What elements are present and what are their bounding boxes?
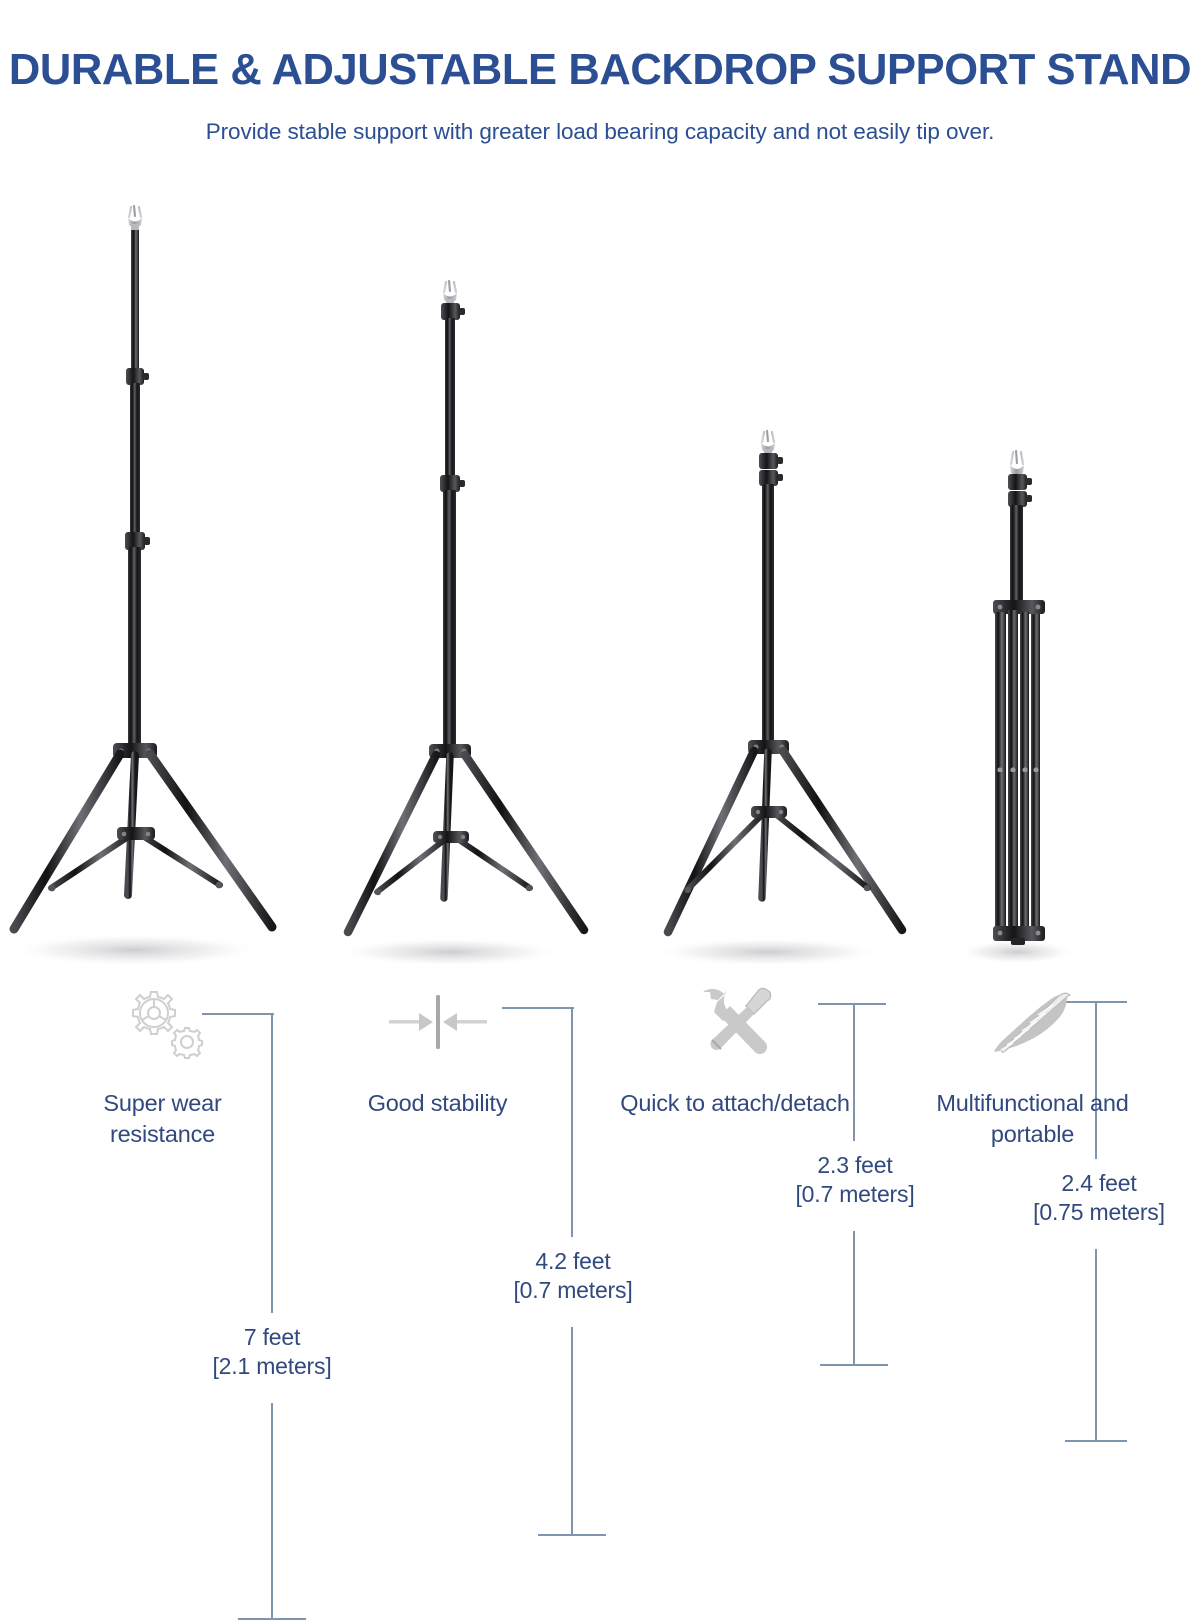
spigot-top xyxy=(443,281,457,305)
lock-collar-lower xyxy=(440,475,465,492)
stand-partially-extended: 4.2 feet [0.7 meters] xyxy=(330,270,630,980)
features-row: Super wearresistance Good stability xyxy=(0,980,1200,1200)
tripod-legs xyxy=(14,754,272,929)
lock-collar-upper xyxy=(126,368,149,385)
feature-label: Good stability xyxy=(310,1088,565,1119)
spigot-top xyxy=(761,431,775,454)
tripod-legs xyxy=(348,755,584,932)
header: DURABLE & ADJUSTABLE BACKDROP SUPPORT ST… xyxy=(0,0,1200,145)
feature-label: Super wearresistance xyxy=(35,1088,290,1150)
dimension-label-stand-2: 4.2 feet [0.7 meters] xyxy=(466,1247,680,1306)
spigot-top xyxy=(128,206,142,231)
lock-collar-lower xyxy=(1008,491,1032,507)
lock-collar-upper xyxy=(441,303,465,320)
lock-collar-lower xyxy=(759,470,783,486)
spigot-top xyxy=(1010,451,1024,476)
page-title: DURABLE & ADJUSTABLE BACKDROP SUPPORT ST… xyxy=(0,0,1200,95)
feature-label: Multifunctional andportable xyxy=(890,1088,1175,1150)
feature-multifunctional-portable: Multifunctional andportable xyxy=(890,980,1175,1150)
feather-icon xyxy=(890,980,1175,1064)
dimension-label-stand-1: 7 feet [2.1 meters] xyxy=(170,1323,374,1382)
feature-super-wear-resistance: Super wearresistance xyxy=(35,980,290,1150)
lock-collar-upper xyxy=(759,453,783,469)
product-illustration-stage: 7 feet [2.1 meters] xyxy=(0,170,1200,980)
folded-leg-bundle xyxy=(993,600,1045,945)
stand-fully-extended: 7 feet [2.1 meters] xyxy=(0,195,310,980)
feature-quick-attach-detach: Quick to attach/detach xyxy=(590,980,880,1119)
stand-folded: 2.4 feet [0.75 meters] xyxy=(955,440,1200,980)
feature-label: Quick to attach/detach xyxy=(590,1088,880,1119)
feature-good-stability: Good stability xyxy=(310,980,565,1119)
tools-icon xyxy=(590,980,880,1064)
gears-icon xyxy=(35,980,290,1064)
page-subtitle: Provide stable support with greater load… xyxy=(0,95,1200,145)
tripod-legs xyxy=(668,751,902,932)
lock-collar-upper xyxy=(1008,474,1032,490)
stand-collapsed-legs-open: 2.3 feet [0.7 meters] xyxy=(640,420,940,980)
stability-arrows-icon xyxy=(310,980,565,1064)
